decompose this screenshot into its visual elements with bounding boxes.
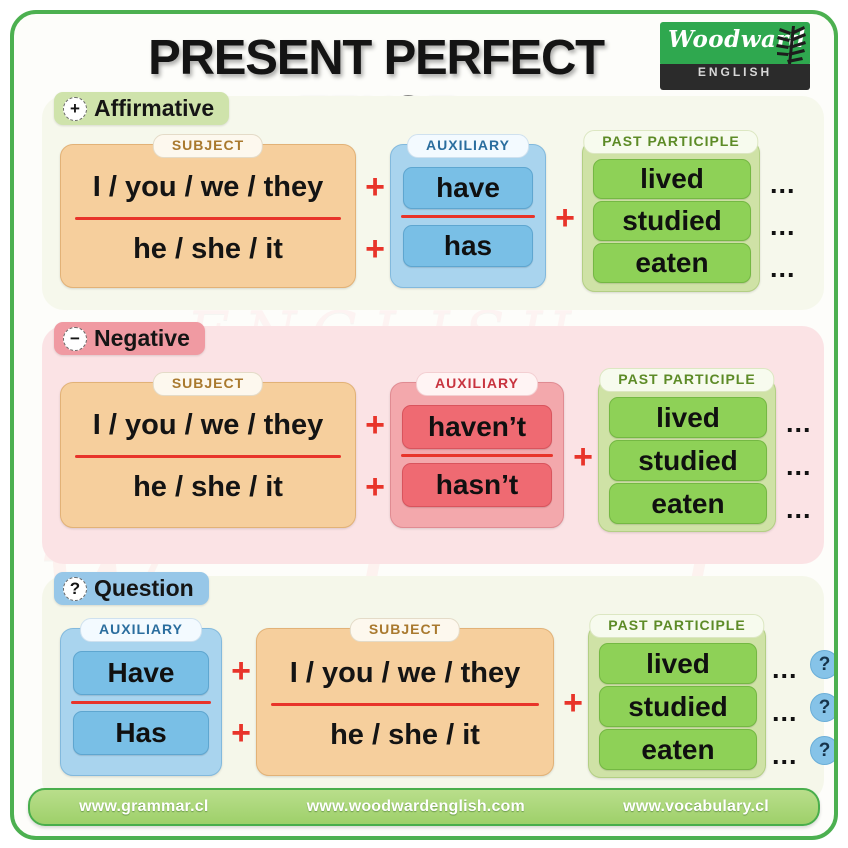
question-participle-label: PAST PARTICIPLE	[589, 614, 764, 638]
question-participle-card: PAST PARTICIPLE lived studied eaten	[588, 624, 766, 778]
badge-question: ? Question	[54, 572, 209, 605]
logo-sub-text: ENGLISH	[660, 65, 810, 79]
affirmative-subject-row2: he / she / it	[61, 233, 355, 266]
question-auxiliary-card: AUXILIARY Have Has	[60, 628, 222, 776]
negative-participle-item-3: eaten	[609, 483, 767, 524]
affirmative-dots-1: ...	[770, 171, 796, 198]
negative-plus-3: +	[570, 440, 596, 474]
poster-frame: Woodward ENGLISH Woodward ENGLISH PRESEN…	[10, 10, 838, 840]
affirmative-plus-1: +	[362, 170, 388, 204]
affirmative-dots-3: ...	[770, 255, 796, 282]
infographic-poster: Woodward ENGLISH Woodward ENGLISH PRESEN…	[0, 0, 848, 848]
affirmative-auxiliary-have: have	[403, 167, 533, 209]
negative-participle-item-1: lived	[609, 397, 767, 438]
negative-subject-label: SUBJECT	[153, 372, 263, 396]
badge-negative-label: Negative	[94, 325, 190, 352]
affirmative-auxiliary-label: AUXILIARY	[407, 134, 529, 158]
question-auxiliary-divider	[71, 701, 211, 704]
negative-plus-2: +	[362, 470, 388, 504]
logo-dark-plate: ENGLISH	[660, 64, 810, 90]
poster-header: PRESENT PERFECT TENSE Woodward	[14, 14, 834, 100]
footer-link-woodwardenglish[interactable]: www.woodwardenglish.com	[307, 798, 525, 816]
affirmative-auxiliary-card: AUXILIARY have has	[390, 144, 546, 288]
question-circle-icon: ?	[63, 577, 87, 601]
negative-subject-row2: he / she / it	[61, 471, 355, 504]
negative-dots-2: ...	[786, 453, 812, 480]
negative-auxiliary-havent: haven’t	[402, 405, 552, 449]
question-participle-item-1: lived	[599, 643, 757, 684]
negative-subject-row1: I / you / we / they	[61, 409, 355, 442]
footer-link-vocabulary[interactable]: www.vocabulary.cl	[623, 798, 769, 816]
negative-participle-item-2: studied	[609, 440, 767, 481]
affirmative-subject-label: SUBJECT	[153, 134, 263, 158]
negative-auxiliary-hasnt: hasn’t	[402, 463, 552, 507]
section-affirmative: + Affirmative SUBJECT I / you / we / the…	[42, 96, 824, 310]
section-question: ? Question AUXILIARY Have Has + + SUBJEC…	[42, 576, 824, 802]
question-subject-card: SUBJECT I / you / we / they he / she / i…	[256, 628, 554, 776]
question-participle-item-2: studied	[599, 686, 757, 727]
footer-link-grammar[interactable]: www.grammar.cl	[79, 798, 208, 816]
affirmative-subject-row1: I / you / we / they	[61, 171, 355, 204]
question-auxiliary-has: Has	[73, 711, 209, 755]
question-dots-1: ...	[772, 656, 798, 683]
affirmative-dots-2: ...	[770, 213, 796, 240]
affirmative-participle-card: PAST PARTICIPLE lived studied eaten	[582, 140, 760, 292]
affirmative-auxiliary-has: has	[403, 225, 533, 267]
negative-auxiliary-card: AUXILIARY haven’t hasn’t	[390, 382, 564, 528]
question-plus-1: +	[228, 654, 254, 688]
negative-participle-card: PAST PARTICIPLE lived studied eaten	[598, 378, 776, 532]
badge-affirmative-label: Affirmative	[94, 95, 214, 122]
question-auxiliary-label: AUXILIARY	[80, 618, 202, 642]
question-subject-divider	[271, 703, 539, 706]
negative-plus-1: +	[362, 408, 388, 442]
question-subject-row1: I / you / we / they	[257, 657, 553, 690]
question-auxiliary-have: Have	[73, 651, 209, 695]
negative-subject-card: SUBJECT I / you / we / they he / she / i…	[60, 382, 356, 528]
negative-auxiliary-label: AUXILIARY	[416, 372, 538, 396]
question-participle-item-3: eaten	[599, 729, 757, 770]
footer-bar: www.grammar.cl www.woodwardenglish.com w…	[28, 788, 820, 826]
question-dots-3: ...	[772, 742, 798, 769]
question-dots-2: ...	[772, 699, 798, 726]
badge-negative: − Negative	[54, 322, 205, 355]
question-plus-2: +	[228, 716, 254, 750]
affirmative-participle-item-1: lived	[593, 159, 751, 199]
question-plus-3: +	[560, 686, 586, 720]
affirmative-auxiliary-divider	[401, 215, 535, 218]
plus-circle-icon: +	[63, 97, 87, 121]
affirmative-subject-card: SUBJECT I / you / we / they he / she / i…	[60, 144, 356, 288]
affirmative-plus-2: +	[362, 232, 388, 266]
question-subject-row2: he / she / it	[257, 719, 553, 752]
negative-participle-label: PAST PARTICIPLE	[599, 368, 774, 392]
negative-dots-3: ...	[786, 496, 812, 523]
question-subject-label: SUBJECT	[350, 618, 460, 642]
minus-circle-icon: −	[63, 327, 87, 351]
affirmative-plus-3: +	[552, 201, 578, 235]
logo-green-plate: Woodward	[660, 22, 810, 66]
affirmative-participle-label: PAST PARTICIPLE	[583, 130, 758, 154]
affirmative-subject-divider	[75, 217, 341, 220]
affirmative-participle-item-3: eaten	[593, 243, 751, 283]
question-mark-badge-1: ?	[810, 650, 838, 679]
affirmative-participle-item-2: studied	[593, 201, 751, 241]
badge-question-label: Question	[94, 575, 194, 602]
question-mark-badge-3: ?	[810, 736, 838, 765]
question-mark-badge-2: ?	[810, 693, 838, 722]
negative-auxiliary-divider	[401, 454, 553, 457]
negative-subject-divider	[75, 455, 341, 458]
fern-icon	[756, 22, 808, 66]
negative-dots-1: ...	[786, 410, 812, 437]
badge-affirmative: + Affirmative	[54, 92, 229, 125]
section-negative: − Negative SUBJECT I / you / we / they h…	[42, 326, 824, 564]
